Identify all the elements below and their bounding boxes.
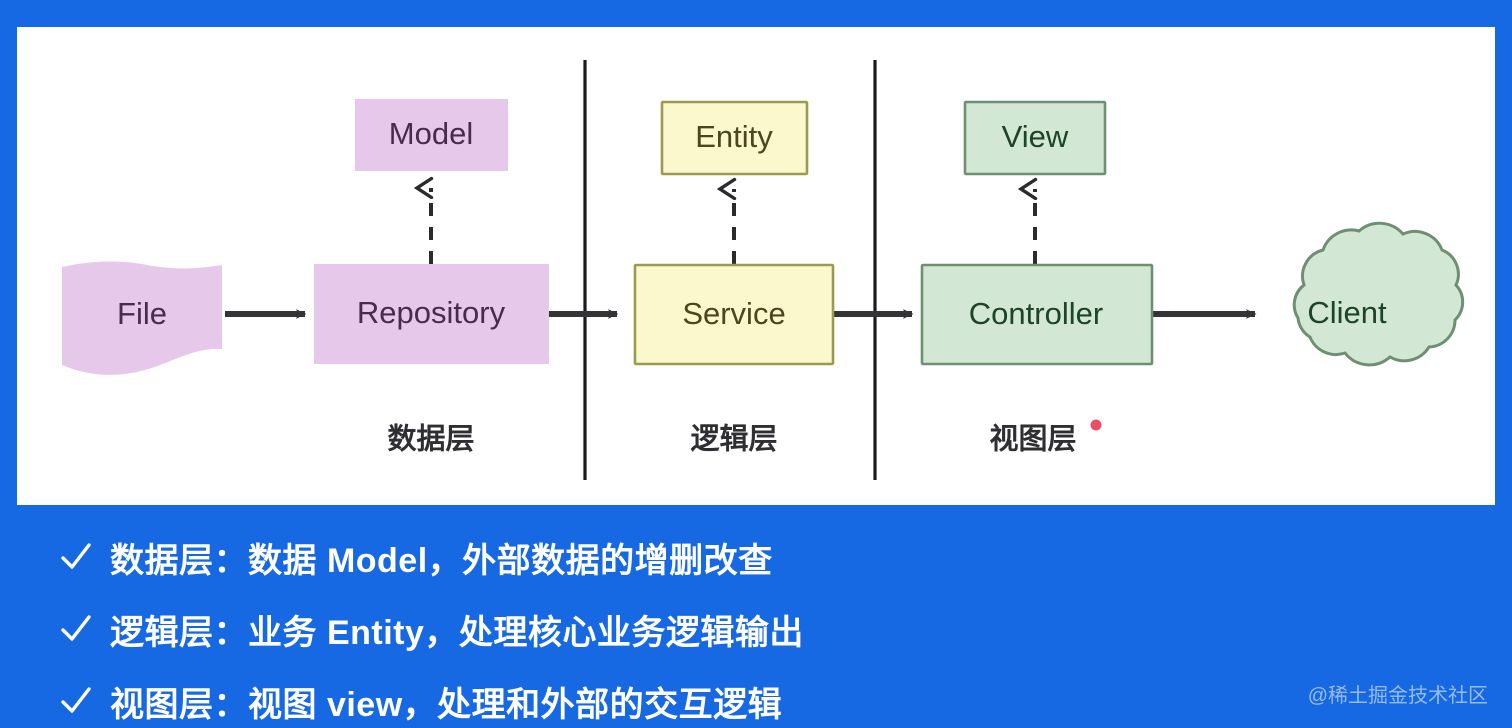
node-repository[interactable]: Repository [314,264,549,364]
controller-label: Controller [969,296,1103,331]
node-controller[interactable]: Controller [922,265,1152,364]
node-service[interactable]: Service [635,265,833,364]
node-client[interactable]: Client [1294,223,1462,365]
slide-root: File Repository Model Service Entity [0,0,1512,722]
layer-label-logic: 逻辑层 [690,423,777,456]
node-entity[interactable]: Entity [662,102,807,174]
service-label: Service [682,296,785,331]
layer-label-view: 视图层 [989,423,1076,456]
red-dot-marker [1091,420,1102,431]
dependency-arrows [431,188,1035,264]
bullet-item-logic-layer: 逻辑层：业务 Entity，处理核心业务逻辑输出 [58,602,804,656]
layer-label-data: 数据层 [387,423,474,456]
check-icon [58,539,94,575]
bullet-list: 数据层：数据 Model，外部数据的增删改查 逻辑层：业务 Entity，处理核… [0,512,1512,722]
bullet-text: 数据层：数据 Model，外部数据的增删改查 [110,533,773,582]
check-icon [58,683,94,719]
check-icon [58,611,94,647]
bullet-text: 视图层：视图 view，处理和外部的交互逻辑 [110,677,782,726]
view-label: View [1002,119,1069,154]
architecture-diagram: File Repository Model Service Entity [17,27,1495,505]
node-file[interactable]: File [62,261,222,374]
node-view[interactable]: View [965,102,1105,174]
bullet-item-view-layer: 视图层：视图 view，处理和外部的交互逻辑 [58,674,782,728]
client-cloud-shape [1294,223,1462,365]
bullet-item-data-layer: 数据层：数据 Model，外部数据的增删改查 [58,530,773,584]
bullet-text: 逻辑层：业务 Entity，处理核心业务逻辑输出 [110,605,804,654]
file-label: File [117,296,167,331]
client-label: Client [1307,295,1387,330]
diagram-panel: File Repository Model Service Entity [17,27,1495,505]
watermark: @稀土掘金技术社区 [1308,679,1488,708]
entity-label: Entity [695,119,773,154]
layer-captions: 数据层 逻辑层 视图层 [387,420,1101,456]
node-model[interactable]: Model [355,99,508,171]
repository-label: Repository [357,295,506,330]
model-label: Model [389,116,473,151]
